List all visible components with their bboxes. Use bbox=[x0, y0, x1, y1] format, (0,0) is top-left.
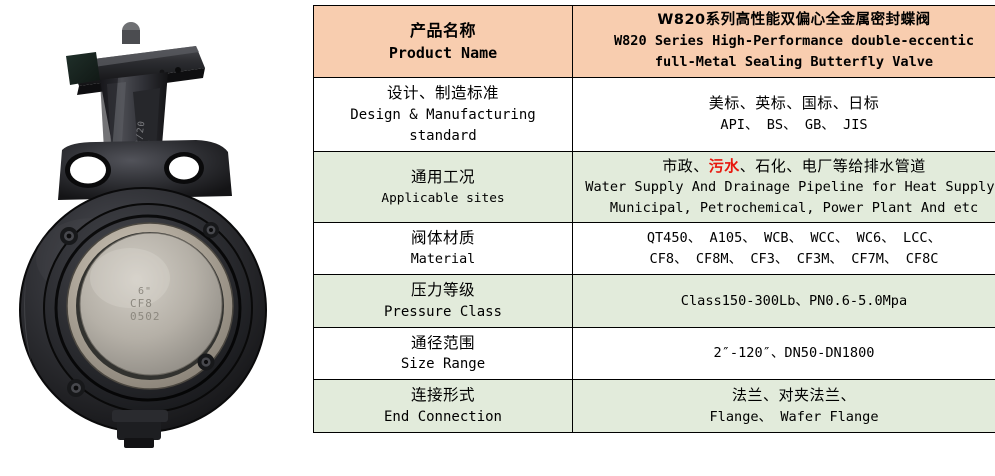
value-applicable-sites: 市政、污水、石化、电厂等给排水管道 Water Supply And Drain… bbox=[573, 151, 995, 223]
value-design-standard: 美标、英标、国标、日标 API、 BS、 GB、 JIS bbox=[573, 78, 995, 151]
value-en-line2: full-Metal Sealing Butterfly Valve bbox=[579, 52, 995, 73]
label-cn: 阀体材质 bbox=[320, 227, 566, 249]
value-en: 2″-120″、DN50-DN1800 bbox=[579, 343, 995, 363]
table-row-product-name: 产品名称 Product Name W820系列高性能双偏心全金属密封蝶阀 W8… bbox=[314, 6, 995, 78]
value-en-line1: W820 Series High-Performance double-ecce… bbox=[579, 31, 995, 52]
label-applicable-sites: 通用工况 Applicable sites bbox=[314, 151, 573, 223]
label-en: Applicable sites bbox=[320, 189, 566, 208]
label-cn: 连接形式 bbox=[320, 384, 566, 406]
label-en: End Connection bbox=[320, 407, 566, 428]
table-row-design-standard: 设计、制造标准 Design & Manufacturing standard … bbox=[314, 78, 995, 151]
valve-body: 6" CF8 0502 bbox=[20, 188, 266, 432]
value-en-line2: CF8、 CF8M、 CF3、 CF3M、 CF7M、 CF8C bbox=[579, 249, 995, 270]
product-spec-table: 产品名称 Product Name W820系列高性能双偏心全金属密封蝶阀 W8… bbox=[313, 5, 995, 433]
value-en: API、 BS、 GB、 JIS bbox=[579, 115, 995, 135]
product-spec-page: 22/8/20 WCB bbox=[0, 0, 995, 476]
value-cn-pre: 市政、 bbox=[662, 157, 709, 175]
svg-text:0502: 0502 bbox=[130, 310, 161, 323]
label-pressure-class: 压力等级 Pressure Class bbox=[314, 275, 573, 327]
value-en-line1: QT450、 A105、 WCB、 WCC、 WC6、 LCC、 bbox=[579, 228, 995, 249]
table-row-applicable-sites: 通用工况 Applicable sites 市政、污水、石化、电厂等给排水管道 … bbox=[314, 151, 995, 223]
value-cn: 市政、污水、石化、电厂等给排水管道 bbox=[579, 156, 995, 178]
svg-text:6": 6" bbox=[138, 286, 152, 297]
value-cn-highlight: 污水 bbox=[709, 157, 740, 175]
label-en: Pressure Class bbox=[320, 302, 566, 323]
table-row-pressure-class: 压力等级 Pressure Class Class150-300Lb、PN0.6… bbox=[314, 275, 995, 327]
label-design-standard: 设计、制造标准 Design & Manufacturing standard bbox=[314, 78, 573, 151]
value-cn-post: 、石化、电厂等给排水管道 bbox=[740, 157, 926, 175]
value-material: QT450、 A105、 WCB、 WCC、 WC6、 LCC、 CF8、 CF… bbox=[573, 223, 995, 275]
label-en: Size Range bbox=[320, 354, 566, 375]
product-photo: 22/8/20 WCB bbox=[0, 0, 311, 476]
butterfly-valve-illustration: 22/8/20 WCB bbox=[0, 0, 311, 476]
label-en: Product Name bbox=[320, 42, 566, 65]
label-en: Material bbox=[320, 250, 566, 271]
label-cn: 通径范围 bbox=[320, 332, 566, 354]
value-cn: 美标、英标、国标、日标 bbox=[579, 93, 995, 115]
table-row-size-range: 通径范围 Size Range 2″-120″、DN50-DN1800 bbox=[314, 327, 995, 379]
value-size-range: 2″-120″、DN50-DN1800 bbox=[573, 327, 995, 379]
label-material: 阀体材质 Material bbox=[314, 223, 573, 275]
label-product-name: 产品名称 Product Name bbox=[314, 6, 573, 78]
label-cn: 产品名称 bbox=[320, 19, 566, 42]
label-end-connection: 连接形式 End Connection bbox=[314, 380, 573, 432]
label-cn: 通用工况 bbox=[320, 166, 566, 188]
label-en-line1: Design & Manufacturing bbox=[320, 105, 566, 126]
value-product-name: W820系列高性能双偏心全金属密封蝶阀 W820 Series High-Per… bbox=[573, 6, 995, 78]
table-row-material: 阀体材质 Material QT450、 A105、 WCB、 WCC、 WC6… bbox=[314, 223, 995, 275]
table-row-end-connection: 连接形式 End Connection 法兰、对夹法兰、 Flange、 Waf… bbox=[314, 380, 995, 432]
value-pressure-class: Class150-300Lb、PN0.6-5.0Mpa bbox=[573, 275, 995, 327]
value-end-connection: 法兰、对夹法兰、 Flange、 Wafer Flange bbox=[573, 380, 995, 432]
svg-text:CF8: CF8 bbox=[130, 297, 153, 310]
label-en-line2: standard bbox=[320, 126, 566, 147]
value-en-line1: Water Supply And Drainage Pipeline for H… bbox=[579, 177, 995, 197]
value-en: Flange、 Wafer Flange bbox=[579, 407, 995, 427]
label-size-range: 通径范围 Size Range bbox=[314, 327, 573, 379]
label-cn: 压力等级 bbox=[320, 279, 566, 301]
value-cn: 法兰、对夹法兰、 bbox=[579, 385, 995, 407]
value-cn: W820系列高性能双偏心全金属密封蝶阀 bbox=[579, 10, 995, 31]
value-en: Class150-300Lb、PN0.6-5.0Mpa bbox=[579, 291, 995, 311]
label-cn: 设计、制造标准 bbox=[320, 82, 566, 104]
value-en-line2: Municipal, Petrochemical, Power Plant An… bbox=[579, 198, 995, 218]
